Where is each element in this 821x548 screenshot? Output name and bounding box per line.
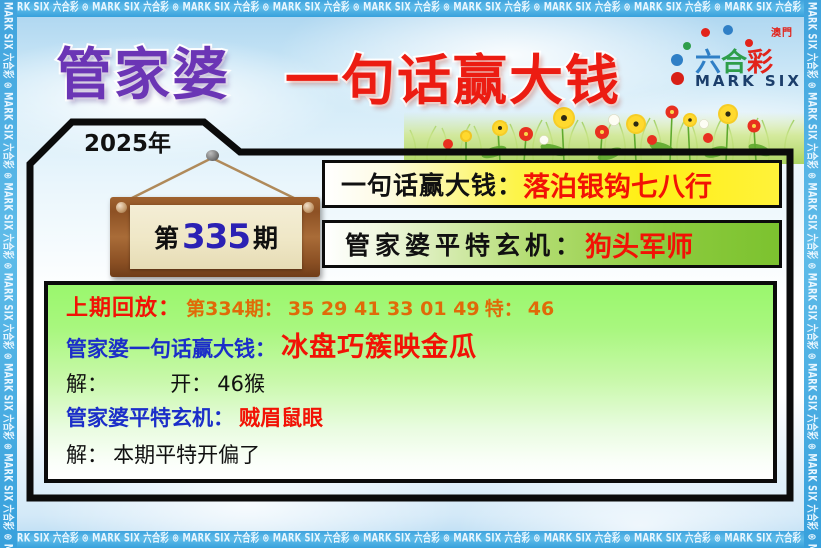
replay-label: 上期回放： <box>66 296 181 321</box>
issue-text: 第 335 期 <box>130 205 302 269</box>
answer-label-1: 解： <box>66 372 108 396</box>
banner-xuanji-label: 管家婆平特玄机： <box>325 226 585 262</box>
issue-number: 335 <box>179 217 253 257</box>
banner-xuanji: 管家婆平特玄机： 狗头军师 <box>322 220 782 268</box>
sign-paper: 第 335 期 <box>130 205 302 269</box>
logo-dot-red-top <box>701 28 710 37</box>
prev-xuanji-value: 贼眉鼠眼 <box>239 406 323 430</box>
border-ribbon-left: MARK SIX 六合彩 ⊛ MARK SIX 六合彩 ⊛ MARK SIX 六… <box>0 0 17 548</box>
border-ribbon-top: MARK SIX 六合彩 ⊛ MARK SIX 六合彩 ⊛ MARK SIX 六… <box>0 0 821 17</box>
banner-tip-phrase: 一句话赢大钱： 落泊银钩七八行 <box>322 160 782 208</box>
answer-text-2: 本期平特开偏了 <box>113 443 260 467</box>
page-title-primary: 管家婆 <box>56 30 230 111</box>
sign-screw-left-icon <box>116 202 127 213</box>
issue-sign: 第 335 期 <box>98 150 328 270</box>
issue-prefix: 第 <box>154 219 179 255</box>
answer-open-value: 46猴 <box>217 372 265 396</box>
border-ribbon-bottom: MARK SIX 六合彩 ⊛ MARK SIX 六合彩 ⊛ MARK SIX 六… <box>0 531 821 548</box>
panel-row-answer-2: 解： 本期平特开偏了 <box>66 445 773 466</box>
border-ribbon-right: MARK SIX 六合彩 ⊛ MARK SIX 六合彩 ⊛ MARK SIX 六… <box>804 0 821 548</box>
sign-nail-icon <box>206 150 219 161</box>
panel-row-replay: 上期回放： 第334期： 35 29 41 33 01 49 特： 46 <box>66 298 773 320</box>
page-title-secondary: 一句话赢大钱 <box>285 36 621 115</box>
ribbon-text-right: MARK SIX 六合彩 ⊛ MARK SIX 六合彩 ⊛ MARK SIX 六… <box>804 0 821 16</box>
logo-dot-red-bottom <box>671 72 684 85</box>
answer-open-label: 开： <box>170 372 212 396</box>
prev-tip-value: 冰盘巧簇映金瓜 <box>281 332 477 363</box>
sign-screw-right-icon <box>303 202 314 213</box>
sign-board: 第 335 期 <box>110 197 320 277</box>
banner-tip-phrase-label: 一句话赢大钱： <box>325 166 523 202</box>
panel-row-prev-tip: 管家婆一句话赢大钱： 冰盘巧簇映金瓜 <box>66 334 773 361</box>
mark-six-logo: 澳門 六合彩 MARK SIX <box>667 22 795 94</box>
ribbon-text-left: MARK SIX 六合彩 ⊛ MARK SIX 六合彩 ⊛ MARK SIX 六… <box>0 0 17 16</box>
ribbon-text-top: MARK SIX 六合彩 ⊛ MARK SIX 六合彩 ⊛ MARK SIX 六… <box>0 0 755 17</box>
replay-numbers: 35 29 41 33 01 49 <box>288 298 480 320</box>
prev-tip-label: 管家婆一句话赢大钱： <box>66 337 276 361</box>
panel-row-answer-1: 解： 开： 46猴 <box>66 374 773 395</box>
answer-label-2: 解： <box>66 443 108 467</box>
banner-xuanji-value: 狗头军师 <box>585 225 693 264</box>
banner-tip-phrase-value: 落泊银钩七八行 <box>523 165 712 204</box>
replay-special-label: 特： <box>485 298 523 320</box>
issue-suffix: 期 <box>253 219 278 255</box>
ribbon-text-bottom: MARK SIX 六合彩 ⊛ MARK SIX 六合彩 ⊛ MARK SIX 六… <box>0 531 755 548</box>
logo-dot-blue-top <box>723 25 733 35</box>
logo-region-label: 澳門 <box>771 24 793 39</box>
history-panel: 上期回放： 第334期： 35 29 41 33 01 49 特： 46 管家婆… <box>44 281 777 483</box>
panel-row-prev-xuanji: 管家婆平特玄机： 贼眉鼠眼 <box>66 408 773 429</box>
logo-dot-blue-mid <box>671 54 683 66</box>
replay-issue: 第334期： <box>186 298 283 320</box>
prev-xuanji-label: 管家婆平特玄机： <box>66 406 234 430</box>
replay-special-number: 46 <box>528 298 554 320</box>
content-frame: 2025年 第 335 期 一句话赢大钱： 落 <box>26 118 794 502</box>
logo-dot-green-left <box>683 42 691 50</box>
logo-english-name: MARK SIX <box>695 72 802 90</box>
lottery-tip-page: 管家婆 一句话赢大钱 澳門 六合彩 MARK SIX 2025年 <box>0 0 821 548</box>
